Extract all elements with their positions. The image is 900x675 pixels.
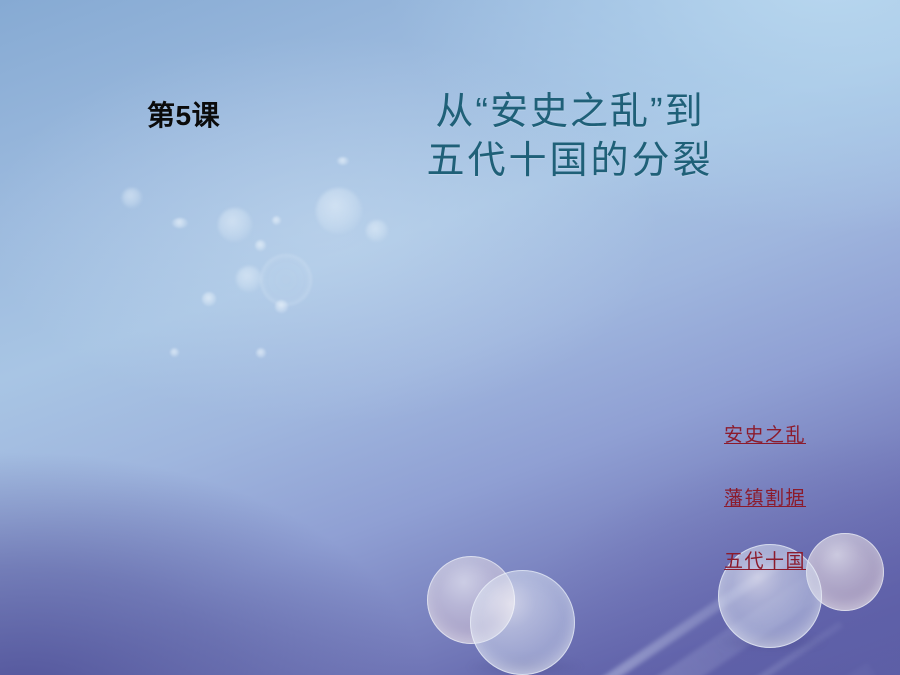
slide-title-line-2: 五代十国的分裂 (360, 137, 780, 186)
lesson-number-label: 第5课 (147, 94, 220, 134)
section-link-five-dynasties-ten-kingdoms[interactable]: 五代十国 (724, 546, 806, 573)
slide-title: 从“安史之乱”到 五代十国的分裂 (360, 88, 780, 185)
section-link-fanzhen-separatism[interactable]: 藩镇割据 (724, 483, 806, 510)
sphere-shadow (716, 632, 828, 652)
sphere-shadow (466, 656, 584, 675)
slide-title-line-1: 从“安史之乱”到 (360, 88, 780, 137)
section-link-an-shi-rebellion[interactable]: 安史之乱 (724, 420, 806, 447)
presentation-slide: 第5课 从“安史之乱”到 五代十国的分裂 安史之乱 藩镇割据 五代十国 (0, 0, 900, 675)
section-link-list: 安史之乱 藩镇割据 五代十国 (690, 420, 840, 573)
